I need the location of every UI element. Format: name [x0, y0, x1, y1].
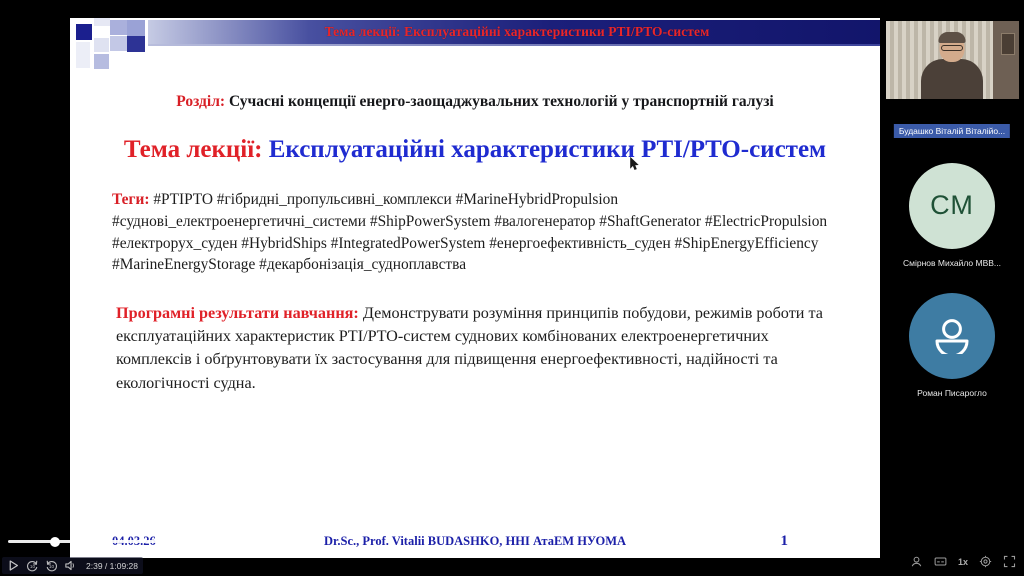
- participant-torso: [921, 59, 983, 99]
- participant-tile-video[interactable]: Будашко Віталій Віталійо...: [880, 0, 1024, 150]
- gear-icon[interactable]: [979, 555, 992, 568]
- lecture-topic-label: Тема лекції:: [124, 136, 263, 163]
- participant-hair: [939, 32, 966, 43]
- slide-banner: Тема лекції: Експлуатаційні характеристи…: [148, 20, 880, 44]
- lecture-topic-text: Експлуатаційні характеристики PTI/PTO-си…: [269, 136, 826, 163]
- forward-10-icon[interactable]: 10: [45, 559, 58, 572]
- subtitles-icon[interactable]: [934, 555, 947, 568]
- person-icon: [930, 318, 974, 354]
- section-label: Розділ:: [176, 93, 225, 110]
- slide-banner-underline: [148, 44, 880, 46]
- section-text: Сучасні концепції енерго-заощаджувальних…: [229, 93, 774, 110]
- participant-name-label: Роман Писарогло: [917, 388, 987, 398]
- participant-rail: Будашко Віталій Віталійо... СМ Смірнов М…: [880, 0, 1024, 576]
- participant-video-frame: [886, 21, 1019, 99]
- participant-glasses-icon: [941, 45, 963, 51]
- lecture-topic: Тема лекції: Експлуатаційні характеристи…: [106, 134, 844, 165]
- mouse-cursor-icon: [630, 157, 639, 171]
- decorative-mosaic: [70, 18, 148, 80]
- participant-name-label: Смірнов Михайло МВВ...: [903, 258, 1001, 268]
- tags-label: Теги:: [112, 191, 150, 208]
- slide-banner-title: Тема лекції: Експлуатаційні характеристи…: [148, 24, 880, 40]
- tags-block: Теги: #PTIPTO #гібридні_пропульсивні_ком…: [106, 189, 844, 275]
- play-icon[interactable]: [7, 559, 20, 572]
- tags-text: #PTIPTO #гібридні_пропульсивні_комплекси…: [112, 191, 827, 273]
- learning-outcomes-label: Програмні результати навчання:: [116, 304, 359, 322]
- volume-icon[interactable]: [64, 559, 77, 572]
- player-right-controls: 1x: [910, 555, 1016, 568]
- participant-tile-glyph[interactable]: Роман Писарогло: [880, 280, 1024, 410]
- avatar: СМ: [909, 163, 995, 249]
- fullscreen-icon[interactable]: [1003, 555, 1016, 568]
- presentation-slide[interactable]: Тема лекції: Експлуатаційні характеристи…: [70, 18, 880, 558]
- background-picture-frame: [1001, 33, 1015, 55]
- progress-scrubber[interactable]: [50, 537, 60, 547]
- participant-name-label: Будашко Віталій Віталійо...: [894, 124, 1010, 138]
- progress-bar[interactable]: [8, 540, 204, 543]
- account-icon[interactable]: [910, 555, 923, 568]
- svg-text:10: 10: [49, 564, 55, 569]
- playback-speed-button[interactable]: 1x: [958, 557, 968, 567]
- participant-tile-initials[interactable]: СМ Смірнов Михайло МВВ...: [880, 150, 1024, 280]
- playback-time: 2:39 / 1:09:28: [86, 561, 138, 571]
- screen-root: Тема лекції: Експлуатаційні характеристи…: [0, 0, 1024, 576]
- learning-outcomes-block: Програмні результати навчання: Демонстру…: [106, 302, 844, 395]
- section-line: Розділ: Сучасні концепції енерго-заощадж…: [134, 92, 816, 112]
- player-left-controls: 10 10 2:39 / 1:09:28: [2, 557, 143, 574]
- slide-body: Розділ: Сучасні концепції енерго-заощадж…: [70, 78, 880, 518]
- avatar-initials: СМ: [930, 190, 974, 221]
- svg-text:10: 10: [30, 564, 36, 569]
- avatar: [909, 293, 995, 379]
- rewind-10-icon[interactable]: 10: [26, 559, 39, 572]
- video-player-controls: 10 10 2:39 / 1:09:28 1x: [0, 538, 1024, 576]
